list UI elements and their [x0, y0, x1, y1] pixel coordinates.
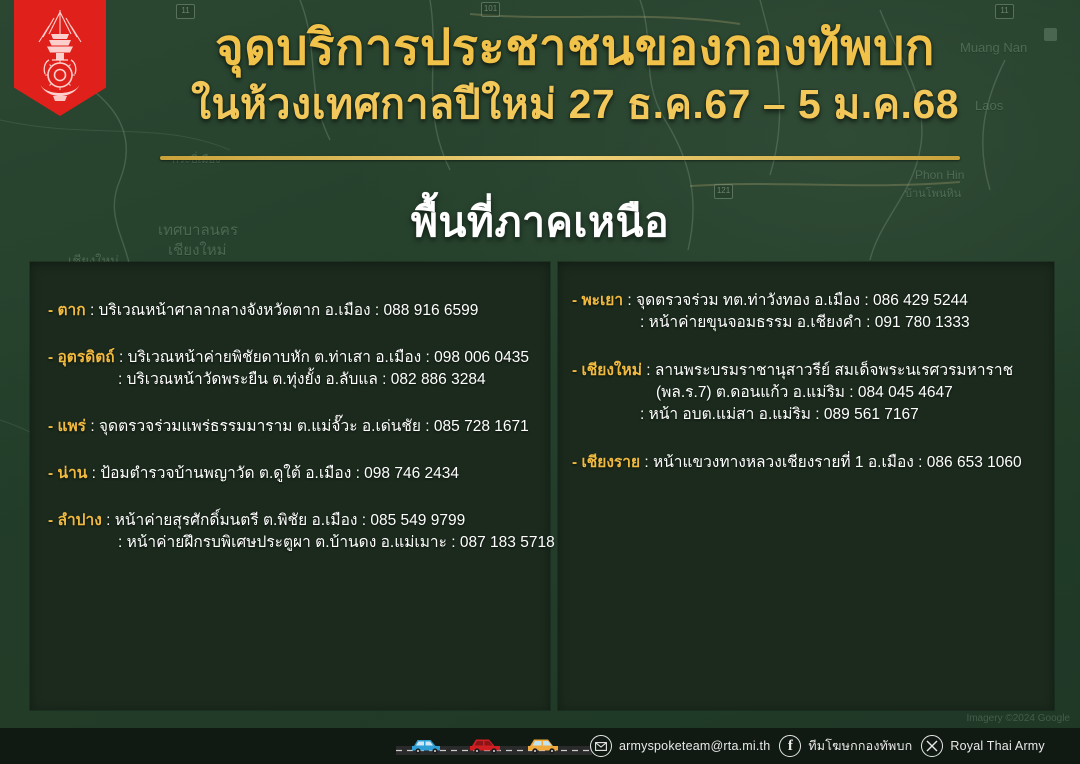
province-name: เชียงใหม่: [581, 362, 646, 379]
province-primary-line: - แพร่ : จุดตรวจร่วมแพร่ธรรมมาราม ต.แม่จ…: [48, 416, 555, 438]
page-title-line-2: ในห้วงเทศกาลปีใหม่ 27 ธ.ค.67 – 5 ม.ค.68: [140, 78, 1010, 130]
contact-item[interactable]: armyspoketeam@rta.mi.th: [590, 735, 770, 757]
location-and-phone: : ลานพระบรมราชานุสาวรีย์ สมเด็จพระนเรศวร…: [646, 362, 1013, 379]
province-entry: - อุตรดิตถ์ : บริเวณหน้าค่ายพิชัยดาบหัก …: [48, 347, 555, 391]
province-primary-line: - พะเยา : จุดตรวจร่วม ทต.ท่าวังทอง อ.เมื…: [572, 290, 1022, 312]
province-name: อุตรดิตถ์: [57, 349, 119, 366]
right-province-list: - พะเยา : จุดตรวจร่วม ทต.ท่าวังทอง อ.เมื…: [572, 290, 1022, 500]
province-entry: - เชียงราย : หน้าแขวงทางหลวงเชียงรายที่ …: [572, 452, 1022, 474]
facebook-icon[interactable]: f: [779, 735, 801, 757]
location-and-phone: (พล.ร.7) ต.ดอนแก้ว อ.แม่ริม : 084 045 46…: [656, 384, 953, 401]
location-and-phone: : หน้า อบต.แม่สา อ.แม่ริม : 089 561 7167: [640, 406, 919, 423]
province-primary-line: - เชียงราย : หน้าแขวงทางหลวงเชียงรายที่ …: [572, 452, 1022, 474]
location-and-phone: : บริเวณหน้าศาลากลางจังหวัดตาก อ.เมือง :…: [90, 302, 478, 319]
province-entry: - แพร่ : จุดตรวจร่วมแพร่ธรรมมาราม ต.แม่จ…: [48, 416, 555, 438]
map-marker: [1044, 28, 1057, 41]
province-primary-line: - เชียงใหม่ : ลานพระบรมราชานุสาวรีย์ สมเ…: [572, 360, 1022, 382]
royal-thai-army-emblem: [14, 0, 106, 116]
location-and-phone: : หน้าค่ายฝึกรบพิเศษประตูผา ต.บ้านดง อ.แ…: [118, 534, 555, 551]
map-route-shield: 101: [481, 2, 500, 17]
contact-item[interactable]: fทีมโฆษกกองทัพบก: [779, 735, 912, 757]
province-entry: - พะเยา : จุดตรวจร่วม ทต.ท่าวังทอง อ.เมื…: [572, 290, 1022, 334]
location-and-phone: : จุดตรวจร่วม ทต.ท่าวังทอง อ.เมือง : 086…: [627, 292, 967, 309]
location-and-phone: : หน้าค่ายสุรศักดิ์มนตรี ต.พิชัย อ.เมือง…: [106, 512, 465, 529]
location-and-phone: : บริเวณหน้าวัดพระยืน ต.ทุ่งยั้ง อ.ลับแล…: [118, 371, 486, 388]
province-name: แพร่: [57, 418, 90, 435]
right-panel: - พะเยา : จุดตรวจร่วม ทต.ท่าวังทอง อ.เมื…: [558, 262, 1054, 710]
province-entry: - ลำปาง : หน้าค่ายสุรศักดิ์มนตรี ต.พิชัย…: [48, 510, 555, 554]
map-place-label: Phon Hin: [915, 168, 964, 182]
province-additional-line: : หน้า อบต.แม่สา อ.แม่ริม : 089 561 7167: [572, 404, 1022, 426]
infographic-root: 101 11 121 11 เทศบาลนครเชียงใหม่เชียงใหม…: [0, 0, 1080, 764]
province-primary-line: - น่าน : ป้อมตำรวจบ้านพญาวัด ต.ดูใต้ อ.เ…: [48, 463, 555, 485]
left-panel: - ตาก : บริเวณหน้าศาลากลางจังหวัดตาก อ.เ…: [30, 262, 550, 710]
contact-label: armyspoketeam@rta.mi.th: [619, 739, 770, 753]
location-and-phone: : ป้อมตำรวจบ้านพญาวัด ต.ดูใต้ อ.เมือง : …: [92, 465, 459, 482]
contact-item[interactable]: Royal Thai Army: [921, 735, 1044, 757]
province-name: เชียงราย: [581, 454, 644, 471]
province-name: ตาก: [57, 302, 89, 319]
x-twitter-icon[interactable]: [921, 735, 943, 757]
contact-label: ทีมโฆษกกองทัพบก: [808, 739, 912, 753]
title-divider: [160, 156, 960, 160]
emblem-icon: [23, 4, 97, 108]
location-and-phone: : จุดตรวจร่วมแพร่ธรรมมาราม ต.แม่จั๊วะ อ.…: [90, 418, 528, 435]
province-primary-line: - ตาก : บริเวณหน้าศาลากลางจังหวัดตาก อ.เ…: [48, 300, 555, 322]
location-and-phone: : หน้าค่ายขุนจอมธรรม อ.เชียงคำ : 091 780…: [640, 314, 970, 331]
province-name: พะเยา: [581, 292, 627, 309]
region-title: พื้นที่ภาคเหนือ: [0, 196, 1080, 248]
map-attribution: Imagery ©2024 Google: [966, 713, 1070, 724]
province-name: ลำปาง: [57, 512, 106, 529]
contact-label: Royal Thai Army: [950, 739, 1044, 753]
map-route-shield: 11: [176, 4, 195, 19]
province-entry: - ตาก : บริเวณหน้าศาลากลางจังหวัดตาก อ.เ…: [48, 300, 555, 322]
left-province-list: - ตาก : บริเวณหน้าศาลากลางจังหวัดตาก อ.เ…: [48, 300, 555, 579]
province-additional-line: : หน้าค่ายฝึกรบพิเศษประตูผา ต.บ้านดง อ.แ…: [48, 532, 555, 554]
province-primary-line: - ลำปาง : หน้าค่ายสุรศักดิ์มนตรี ต.พิชัย…: [48, 510, 555, 532]
province-primary-line: - อุตรดิตถ์ : บริเวณหน้าค่ายพิชัยดาบหัก …: [48, 347, 555, 369]
province-entry: - เชียงใหม่ : ลานพระบรมราชานุสาวรีย์ สมเ…: [572, 360, 1022, 426]
cars-on-road-graphic: [396, 728, 592, 760]
map-route-shield: 11: [995, 4, 1014, 19]
email-icon[interactable]: [590, 735, 612, 757]
footer-contacts: armyspoketeam@rta.mi.thfทีมโฆษกกองทัพบกR…: [590, 728, 1045, 764]
header-titles: จุดบริการประชาชนของกองทัพบก ในห้วงเทศกาล…: [140, 18, 1010, 130]
location-and-phone: : หน้าแขวงทางหลวงเชียงรายที่ 1 อ.เมือง :…: [644, 454, 1021, 471]
province-additional-line: : บริเวณหน้าวัดพระยืน ต.ทุ่งยั้ง อ.ลับแล…: [48, 369, 555, 391]
province-name: น่าน: [57, 465, 91, 482]
location-and-phone: : บริเวณหน้าค่ายพิชัยดาบหัก ต.ท่าเสา อ.เ…: [119, 349, 529, 366]
province-additional-line: (พล.ร.7) ต.ดอนแก้ว อ.แม่ริม : 084 045 46…: [572, 382, 1022, 404]
page-title-line-1: จุดบริการประชาชนของกองทัพบก: [140, 18, 1010, 78]
province-entry: - น่าน : ป้อมตำรวจบ้านพญาวัด ต.ดูใต้ อ.เ…: [48, 463, 555, 485]
province-additional-line: : หน้าค่ายขุนจอมธรรม อ.เชียงคำ : 091 780…: [572, 312, 1022, 334]
